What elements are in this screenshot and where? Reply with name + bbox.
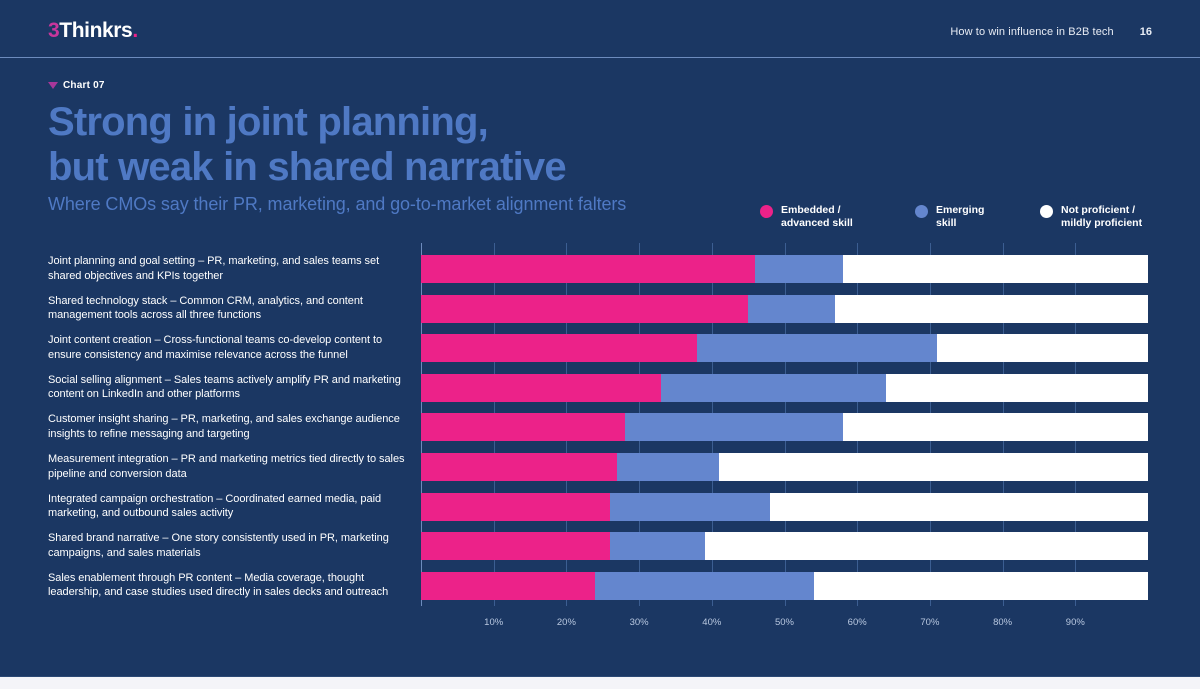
x-axis: 10%20%30%40%50%60%70%80%90% [421,606,1148,636]
bar-segment[interactable] [617,453,719,481]
page-subtitle: Where CMOs say their PR, marketing, and … [48,194,626,215]
bar-segment[interactable] [835,295,1148,323]
bar-row[interactable] [421,255,1148,283]
bar-segment[interactable] [421,572,595,600]
header-meta: How to win influence in B2B tech 16 [950,26,1152,38]
bar-segment[interactable] [843,255,1148,283]
x-axis-tick: 70% [920,617,939,628]
bar-row[interactable] [421,572,1148,600]
category-label: Joint planning and goal setting – PR, ma… [48,254,413,283]
bar-segment[interactable] [843,413,1148,441]
bar-segment[interactable] [421,334,697,362]
logo-dot: . [132,19,137,42]
legend-swatch-icon [915,205,928,218]
bar-segment[interactable] [421,493,610,521]
bar-row[interactable] [421,532,1148,560]
x-axis-tick: 50% [775,617,794,628]
brand-logo: 3Thinkrs. [48,20,138,41]
bar-row[interactable] [421,334,1148,362]
legend-swatch-icon [760,205,773,218]
logo-wordmark: Thinkrs [59,19,132,42]
bar-segment[interactable] [886,374,1148,402]
bar-segment[interactable] [770,493,1148,521]
category-label: Shared brand narrative – One story consi… [48,531,413,560]
bar-segment[interactable] [610,532,705,560]
page-title: Strong in joint planning, but weak in sh… [48,100,566,190]
category-label: Social selling alignment – Sales teams a… [48,373,413,402]
chart-eyebrow: Chart 07 [48,80,105,91]
bar-segment[interactable] [661,374,886,402]
x-axis-tick: 40% [702,617,721,628]
logo-numeral: 3 [48,19,59,42]
bar-row[interactable] [421,453,1148,481]
bar-segment[interactable] [625,413,843,441]
triangle-down-icon [48,82,58,89]
plot-area [421,243,1148,606]
slide-header: 3Thinkrs. How to win influence in B2B te… [0,0,1200,58]
category-label: Customer insight sharing – PR, marketing… [48,412,413,441]
x-axis-tick: 10% [484,617,503,628]
legend-item-1[interactable]: Emerging skill [915,204,1040,231]
x-axis-tick: 60% [848,617,867,628]
bar-row[interactable] [421,295,1148,323]
category-label: Integrated campaign orchestration – Coor… [48,492,413,521]
legend-item-0[interactable]: Embedded / advanced skill [760,204,915,231]
category-label: Shared technology stack – Common CRM, an… [48,294,413,323]
x-axis-tick: 80% [993,617,1012,628]
bar-segment[interactable] [719,453,1148,481]
bar-segment[interactable] [421,295,748,323]
chart-number-label: Chart 07 [63,80,105,91]
bar-segment[interactable] [595,572,813,600]
x-axis-tick: 20% [557,617,576,628]
bar-segment[interactable] [748,295,835,323]
legend-swatch-icon [1040,205,1053,218]
chart-area: Joint planning and goal setting – PR, ma… [0,243,1200,638]
bar-segment[interactable] [697,334,937,362]
chart-legend: Embedded / advanced skillEmerging skillN… [760,204,1180,231]
legend-item-2[interactable]: Not proficient / mildly proficient [1040,204,1180,231]
slide-canvas: 3Thinkrs. How to win influence in B2B te… [0,0,1200,677]
bar-segment[interactable] [421,532,610,560]
bar-row[interactable] [421,413,1148,441]
category-labels: Joint planning and goal setting – PR, ma… [48,243,413,606]
bar-row[interactable] [421,374,1148,402]
x-axis-tick: 30% [630,617,649,628]
page-number: 16 [1140,26,1152,38]
legend-label: Not proficient / mildly proficient [1061,204,1142,231]
legend-label: Emerging skill [936,204,984,231]
bar-segment[interactable] [814,572,1148,600]
category-label: Sales enablement through PR content – Me… [48,571,413,600]
bar-segment[interactable] [421,374,661,402]
bar-segment[interactable] [755,255,842,283]
header-divider [0,57,1200,58]
document-title: How to win influence in B2B tech [950,26,1113,38]
bar-segment[interactable] [421,413,625,441]
bar-segment[interactable] [610,493,770,521]
x-axis-tick: 90% [1066,617,1085,628]
footer-divider [0,676,1200,677]
bar-segment[interactable] [421,255,755,283]
bar-segment[interactable] [421,453,617,481]
bar-segment[interactable] [705,532,1148,560]
category-label: Joint content creation – Cross-functiona… [48,333,413,362]
bar-segment[interactable] [937,334,1148,362]
legend-label: Embedded / advanced skill [781,204,853,231]
category-label: Measurement integration – PR and marketi… [48,452,413,481]
bar-row[interactable] [421,493,1148,521]
